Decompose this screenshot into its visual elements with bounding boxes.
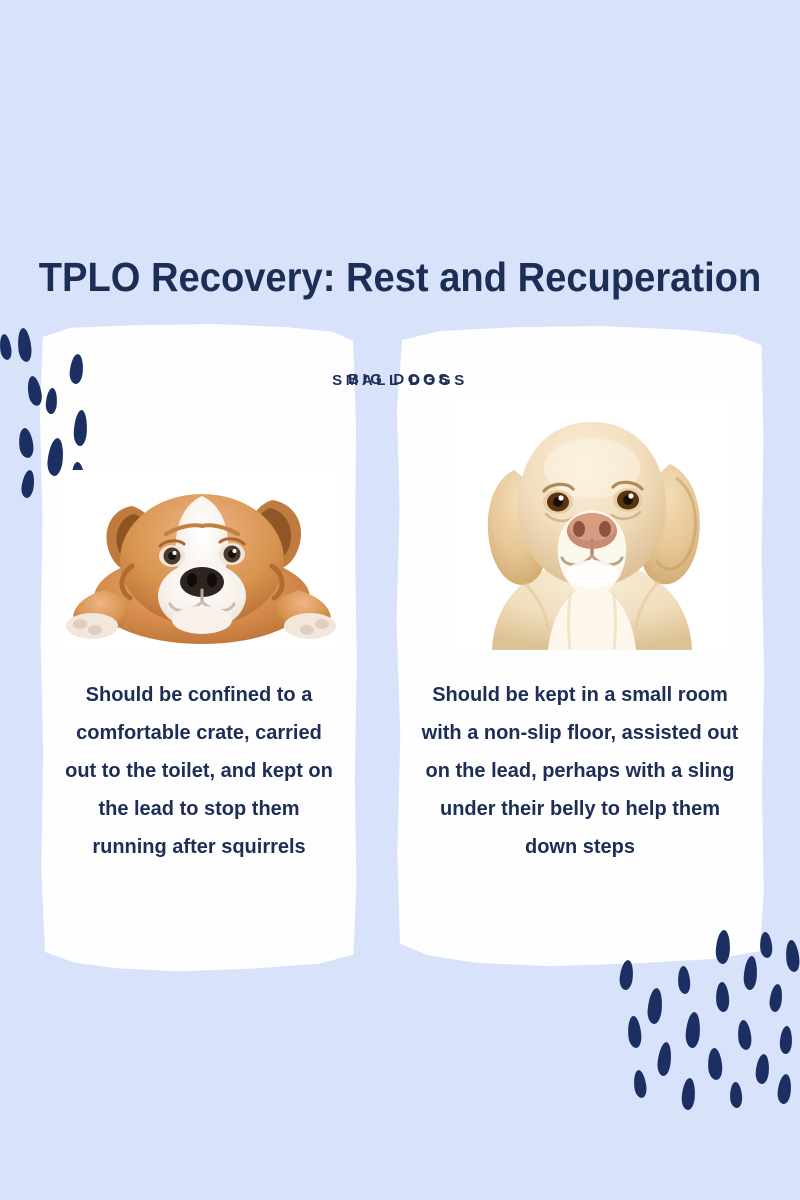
decor-teardrop: [646, 987, 663, 1024]
decor-teardrop: [759, 932, 773, 959]
decor-teardrop: [632, 1069, 647, 1098]
decor-teardrop: [16, 327, 32, 362]
infographic-canvas: TPLO Recovery: Rest and Recuperation SMA…: [0, 0, 800, 1200]
decor-teardrop: [776, 1073, 792, 1104]
decor-teardrop: [627, 1015, 643, 1048]
decor-teardrop: [715, 982, 730, 1013]
page-title: TPLO Recovery: Rest and Recuperation: [28, 252, 772, 302]
decor-teardrop: [656, 1041, 672, 1076]
decor-teardrop: [17, 427, 35, 458]
decor-teardrop: [736, 1019, 752, 1050]
card-body-small-dogs: Should be confined to a comfortable crat…: [60, 676, 338, 866]
photo-bulldog: [62, 470, 342, 650]
decor-teardrop: [784, 939, 800, 972]
card-header-big-dogs: BIG DOGS: [0, 371, 800, 388]
decor-teardrop: [685, 1012, 701, 1049]
decor-teardrop: [0, 333, 13, 360]
decor-teardrop: [618, 959, 634, 990]
decor-teardrop: [729, 1082, 742, 1109]
decor-teardrop: [20, 469, 36, 498]
photo-retriever: [452, 398, 732, 650]
decor-teardrop: [755, 1053, 771, 1084]
decor-teardrop: [779, 1026, 792, 1055]
decor-teardrop: [768, 983, 783, 1012]
decor-teardrop: [707, 1048, 723, 1081]
decor-teardrop: [677, 966, 691, 995]
decor-teardrop: [681, 1078, 696, 1111]
decor-teardrop: [743, 956, 758, 991]
card-body-big-dogs: Should be kept in a small room with a no…: [415, 676, 745, 866]
